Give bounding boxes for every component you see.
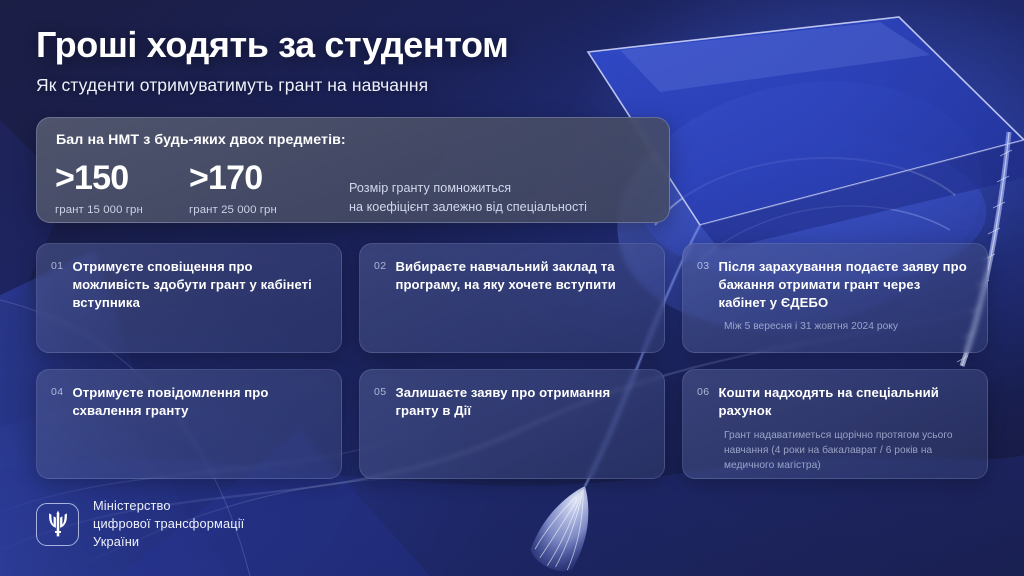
- page-title: Гроші ходять за студентом: [36, 26, 508, 64]
- score-aside-line-2: на коефіцієнт залежно від спеціальності: [349, 198, 587, 217]
- score-tier-170-note: грант 25 000 грн: [189, 204, 277, 216]
- step-card-05: 05 Залишаєте заяву про отримання гранту …: [359, 369, 665, 479]
- step-text-04: Отримуєте повідомлення про схвалення гра…: [72, 384, 325, 420]
- poster-header: Гроші ходять за студентом Як студенти от…: [36, 26, 508, 96]
- score-tier-150: >150 грант 15 000 грн: [55, 161, 143, 216]
- step-note-03: Між 5 вересня і 31 жовтня 2024 року: [724, 320, 971, 335]
- step-number-02: 02: [374, 258, 386, 272]
- ministry-line-2: цифрової трансформації: [93, 515, 244, 533]
- score-tier-170: >170 грант 25 000 грн: [189, 161, 277, 216]
- score-panel-aside: Розмір гранту помножиться на коефіцієнт …: [349, 179, 587, 217]
- score-panel-heading: Бал на НМТ з будь-яких двох предметів:: [56, 132, 346, 148]
- score-tier-150-note: грант 15 000 грн: [55, 204, 143, 216]
- step-number-03: 03: [697, 258, 709, 272]
- step-text-01: Отримуєте сповіщення про можливість здоб…: [72, 258, 325, 312]
- step-text-06: Кошти надходять на спеціальний рахунок: [718, 384, 971, 420]
- score-tier-150-value: >150: [55, 161, 143, 195]
- step-card-02: 02 Вибираєте навчальний заклад та програ…: [359, 243, 665, 353]
- ministry-line-3: України: [93, 533, 244, 551]
- step-text-03: Після зарахування подаєте заяву про бажа…: [718, 258, 971, 312]
- step-text-05: Залишаєте заяву про отримання гранту в Д…: [395, 384, 648, 420]
- score-aside-line-1: Розмір гранту помножиться: [349, 179, 587, 198]
- page-subtitle: Як студенти отримуватимуть грант на навч…: [36, 75, 508, 96]
- step-number-04: 04: [51, 384, 63, 398]
- step-number-01: 01: [51, 258, 63, 272]
- score-tier-170-value: >170: [189, 161, 277, 195]
- ministry-name: Міністерство цифрової трансформації Укра…: [93, 497, 244, 551]
- step-number-06: 06: [697, 384, 709, 398]
- step-number-05: 05: [374, 384, 386, 398]
- step-card-03: 03 Після зарахування подаєте заяву про б…: [682, 243, 988, 353]
- steps-grid: 01 Отримуєте сповіщення про можливість з…: [36, 243, 988, 479]
- step-note-06: Грант надаватиметься щорічно протягом ус…: [724, 429, 971, 473]
- step-card-01: 01 Отримуєте сповіщення про можливість з…: [36, 243, 342, 353]
- ukraine-trident-icon: [36, 503, 79, 546]
- ministry-footer: Міністерство цифрової трансформації Укра…: [36, 497, 244, 551]
- step-card-04: 04 Отримуєте повідомлення про схвалення …: [36, 369, 342, 479]
- infographic-poster: Гроші ходять за студентом Як студенти от…: [0, 0, 1024, 576]
- step-card-06: 06 Кошти надходять на спеціальний рахуно…: [682, 369, 988, 479]
- ministry-line-1: Міністерство: [93, 497, 244, 515]
- step-text-02: Вибираєте навчальний заклад та програму,…: [395, 258, 648, 294]
- score-panel: Бал на НМТ з будь-яких двох предметів: >…: [36, 117, 670, 223]
